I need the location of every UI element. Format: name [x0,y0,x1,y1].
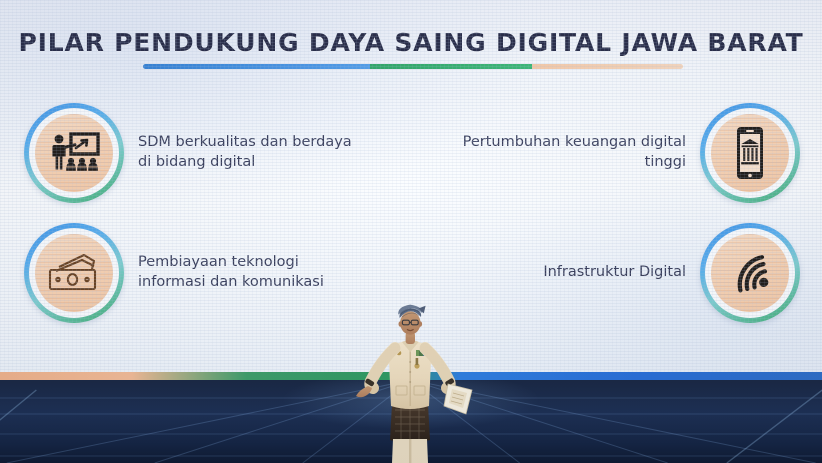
pillar-infrastruktur-text: Infrastruktur Digital [543,263,686,283]
mobile-banking-icon [711,114,789,192]
rule-segment-green [370,64,532,69]
pillar-keuangan-badge [700,103,800,203]
banknotes-icon [35,234,113,312]
pillar-keuangan-line2: tinggi [463,153,686,173]
pillar-sdm-line1: SDM berkualitas dan berdaya [138,133,352,153]
pillar-pembiayaan-line1: Pembiayaan teknologi [138,253,324,273]
pillar-sdm-text: SDM berkualitas dan berdaya di bidang di… [138,133,352,172]
left-arm-holding-papers [425,348,472,414]
held-papers [444,384,472,414]
slide-title: PILAR PENDUKUNG DAYA SAING DIGITAL JAWA … [0,28,822,57]
pillar-pembiayaan-line2: informasi dan komunikasi [138,273,324,293]
pillar-sdm: SDM berkualitas dan berdaya di bidang di… [24,103,352,203]
pillar-keuangan-line1: Pertumbuhan keuangan digital [463,133,686,153]
pillar-keuangan: Pertumbuhan keuangan digital tinggi [463,103,800,203]
rule-segment-peach [532,64,683,69]
pillar-infrastruktur: Infrastruktur Digital [543,223,800,323]
pillar-pembiayaan-text: Pembiayaan teknologi informasi dan komun… [138,253,324,292]
pillar-infrastruktur-badge [700,223,800,323]
event-stage-photo: PILAR PENDUKUNG DAYA SAING DIGITAL JAWA … [0,0,822,463]
pillar-pembiayaan: Pembiayaan teknologi informasi dan komun… [24,223,324,323]
pillar-pembiayaan-badge [24,223,124,323]
wifi-signal-icon [711,234,789,312]
pillar-infrastruktur-line1: Infrastruktur Digital [543,263,686,283]
pillar-sdm-badge [24,103,124,203]
pillar-keuangan-text: Pertumbuhan keuangan digital tinggi [463,133,686,172]
speaker-figure [348,296,474,463]
title-underline-rule [143,64,683,69]
pillar-sdm-line2: di bidang digital [138,153,352,173]
rule-segment-blue [143,64,370,69]
right-arm-open [356,348,395,397]
teacher-whiteboard-icon [35,114,113,192]
